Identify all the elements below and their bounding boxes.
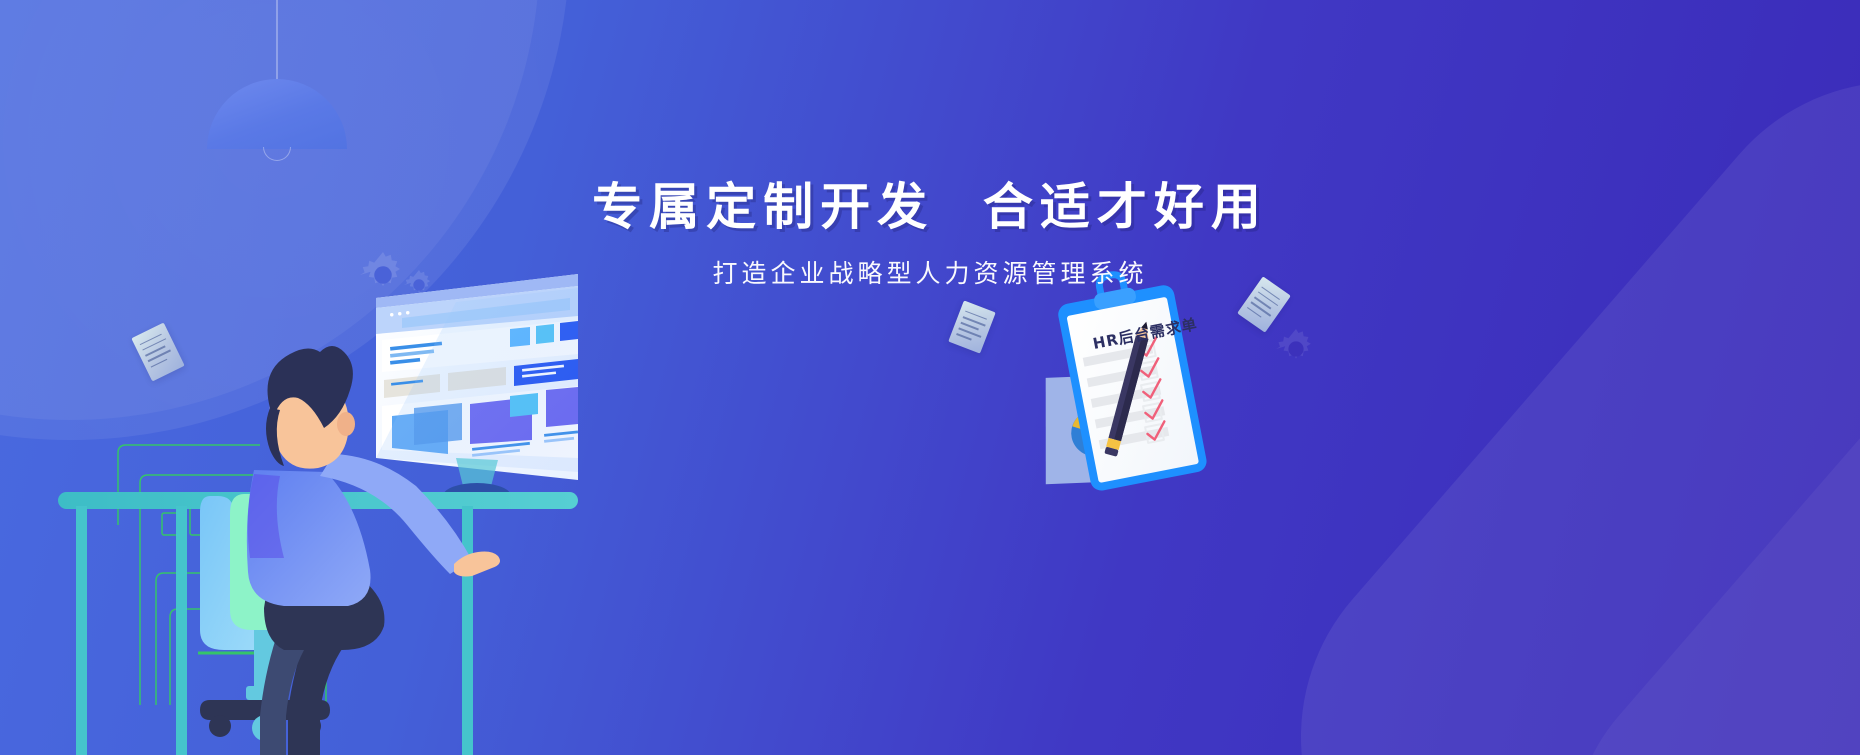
banner-copy: 专属定制开发 合适才好用 打造企业战略型人力资源管理系统 (0, 178, 1860, 290)
page-title: 专属定制开发 合适才好用 (0, 178, 1860, 237)
illustration-person-at-desk (58, 258, 578, 755)
bottom-right-diagonal-shape (1215, 0, 1860, 755)
illustration-hr-clipboard (1000, 272, 1230, 522)
document-sheet (948, 300, 996, 353)
bottom-right-diagonal-shape-back (1494, 44, 1860, 755)
lamp-shade (207, 79, 347, 149)
pendant-lamp-icon (207, 0, 347, 170)
monitor-screen (376, 274, 578, 509)
lamp-bulb (263, 147, 291, 161)
hero-banner: 专属定制开发 合适才好用 打造企业战略型人力资源管理系统 (0, 0, 1860, 755)
floating-document-icon (948, 300, 996, 353)
gear-icon (1276, 329, 1316, 369)
page-subtitle: 打造企业战略型人力资源管理系统 (0, 254, 1860, 290)
lamp-cord (276, 0, 278, 80)
